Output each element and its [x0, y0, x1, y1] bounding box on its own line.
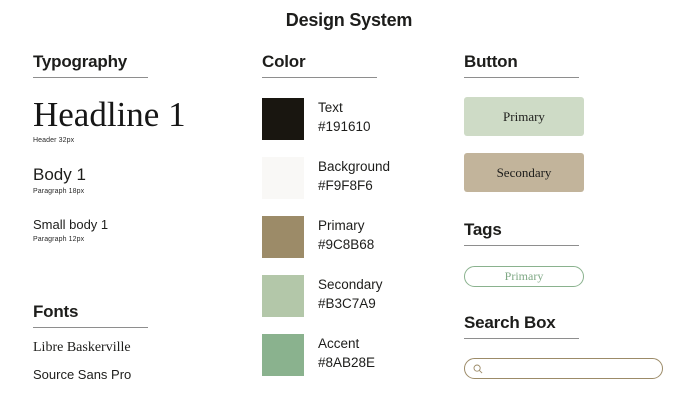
typography-heading-rule: [33, 77, 148, 78]
tags-section: Tags Primary: [464, 220, 679, 287]
button-heading-rule: [464, 77, 579, 78]
font-item-sans: Source Sans Pro: [33, 365, 233, 384]
search-section: Search Box: [464, 313, 679, 379]
search-icon: [473, 364, 483, 374]
color-swatch-row: Background #F9F8F6: [262, 157, 452, 199]
color-swatch-chip: [262, 98, 304, 140]
tags-heading-rule: [464, 245, 579, 246]
page-title: Design System: [0, 10, 698, 31]
fonts-heading: Fonts: [33, 302, 233, 322]
color-swatch-row: Secondary #B3C7A9: [262, 275, 452, 317]
button-section: Button Primary Secondary: [464, 52, 679, 192]
color-swatch-row: Text #191610: [262, 98, 452, 140]
button-heading: Button: [464, 52, 679, 72]
search-heading: Search Box: [464, 313, 679, 333]
primary-button[interactable]: Primary: [464, 97, 584, 136]
color-swatch-name: Text: [318, 98, 371, 117]
typography-section: Typography Headline 1 Header 32px Body 1…: [33, 52, 233, 245]
type-sample-headline1: Headline 1 Header 32px: [33, 96, 233, 146]
search-box[interactable]: [464, 358, 663, 379]
type-sample-smallbody1: Small body 1 Paragraph 12px: [33, 217, 233, 245]
color-swatch-name: Secondary: [318, 275, 383, 294]
components-column: Button Primary Secondary Tags Primary Se…: [464, 52, 679, 379]
body1-meta: Paragraph 18px: [33, 187, 233, 197]
color-section: Color Text #191610 Background #F9F8F6 Pr…: [262, 52, 452, 376]
color-heading: Color: [262, 52, 452, 72]
color-swatch-hex: #B3C7A9: [318, 294, 383, 313]
color-swatch-hex: #8AB28E: [318, 353, 375, 372]
body1-label: Body 1: [33, 165, 233, 185]
secondary-button[interactable]: Secondary: [464, 153, 584, 192]
color-swatch-chip: [262, 334, 304, 376]
smallbody1-label: Small body 1: [33, 217, 233, 233]
typography-heading: Typography: [33, 52, 233, 72]
fonts-heading-rule: [33, 327, 148, 328]
color-swatch-row: Accent #8AB28E: [262, 334, 452, 376]
color-swatch-row: Primary #9C8B68: [262, 216, 452, 258]
font-item-serif: Libre Baskerville: [33, 338, 233, 358]
type-sample-body1: Body 1 Paragraph 18px: [33, 165, 233, 197]
headline1-label: Headline 1: [33, 96, 233, 134]
color-swatch-hex: #F9F8F6: [318, 176, 390, 195]
tag-primary[interactable]: Primary: [464, 266, 584, 287]
color-swatch-name: Background: [318, 157, 390, 176]
search-heading-rule: [464, 338, 579, 339]
color-swatch-hex: #9C8B68: [318, 235, 374, 254]
fonts-section: Fonts Libre Baskerville Source Sans Pro: [33, 302, 233, 384]
headline1-meta: Header 32px: [33, 136, 233, 146]
color-swatch-name: Primary: [318, 216, 374, 235]
color-swatch-chip: [262, 275, 304, 317]
color-swatch-chip: [262, 216, 304, 258]
color-swatch-hex: #191610: [318, 117, 371, 136]
color-swatch-chip: [262, 157, 304, 199]
tags-heading: Tags: [464, 220, 679, 240]
smallbody1-meta: Paragraph 12px: [33, 235, 233, 245]
color-swatch-name: Accent: [318, 334, 375, 353]
color-heading-rule: [262, 77, 377, 78]
search-input[interactable]: [488, 361, 648, 376]
